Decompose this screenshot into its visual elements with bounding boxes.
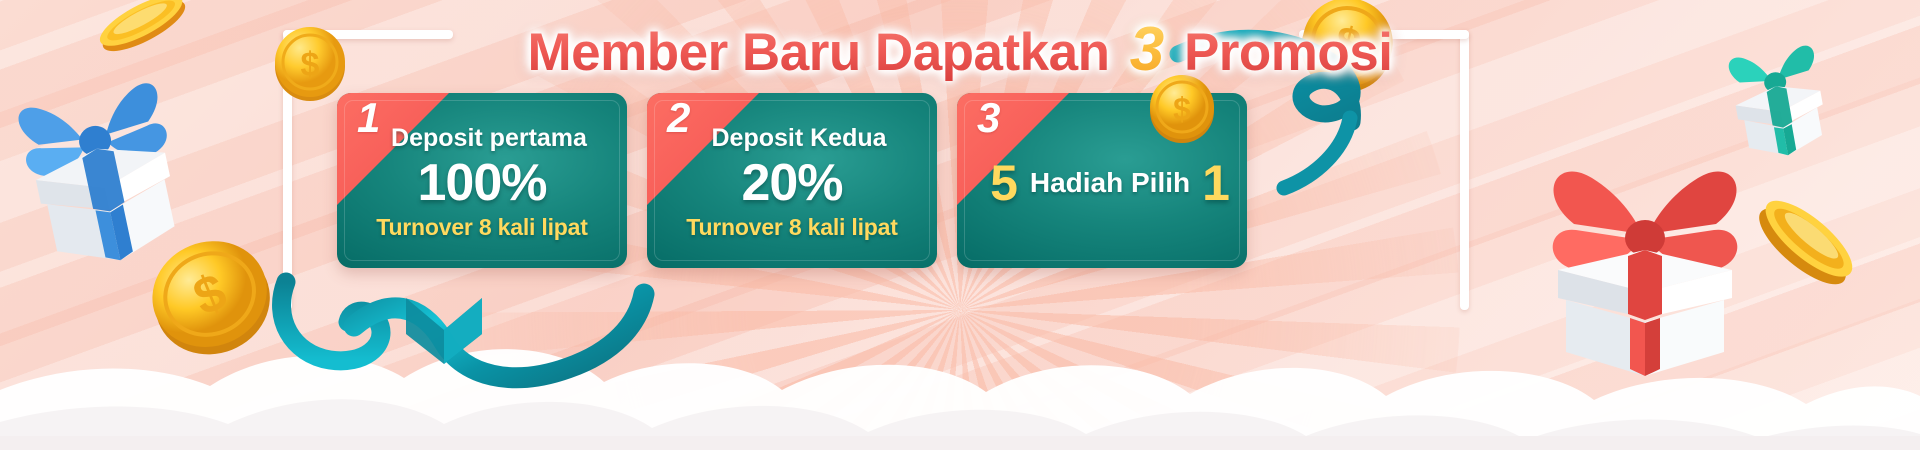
card-amount: 100% [418, 155, 547, 211]
svg-text:$: $ [186, 263, 235, 328]
banner-title: Member Baru Dapatkan 3 Promosi [0, 14, 1920, 85]
card-middle-text: Hadiah Pilih [1030, 167, 1190, 199]
card-note: Turnover 8 kali lipat [686, 214, 897, 241]
card-trail-number: 1 [1202, 158, 1230, 208]
title-part-two: Promosi [1184, 22, 1393, 83]
card-body: Deposit pertama 100% Turnover 8 kali lip… [337, 93, 627, 268]
card-body: Deposit Kedua 20% Turnover 8 kali lipat [647, 93, 937, 268]
promo-card-second-deposit[interactable]: 2 Deposit Kedua 20% Turnover 8 kali lipa… [647, 93, 937, 268]
gift-box-red-ribbon-icon [1530, 150, 1760, 380]
card-inline-row: 5 Hadiah Pilih 1 [990, 158, 1230, 208]
promo-card-list: 1 Deposit pertama 100% Turnover 8 kali l… [337, 93, 1427, 268]
card-title: Deposit Kedua [711, 124, 886, 153]
gift-box-blue-ribbon-icon [14, 78, 194, 268]
title-part-one: Member Baru Dapatkan [527, 22, 1109, 83]
gold-coin-dollar-icon: $ [142, 232, 278, 358]
teal-ribbon-streamer-icon [268, 268, 668, 398]
card-lead-number: 5 [990, 158, 1018, 208]
promo-banner: $ [0, 0, 1920, 450]
card-title: Deposit pertama [391, 124, 587, 153]
title-highlight-number: 3 [1130, 14, 1164, 85]
card-amount: 20% [741, 155, 842, 211]
card-note: Turnover 8 kali lipat [376, 214, 587, 241]
promo-card-first-deposit[interactable]: 1 Deposit pertama 100% Turnover 8 kali l… [337, 93, 627, 268]
promo-card-gift-choice[interactable]: 3 5 Hadiah Pilih 1 [957, 93, 1247, 268]
gold-coin-edge-icon [1742, 176, 1872, 306]
card-body: 5 Hadiah Pilih 1 [957, 93, 1247, 268]
cloud-bank [0, 250, 1920, 450]
